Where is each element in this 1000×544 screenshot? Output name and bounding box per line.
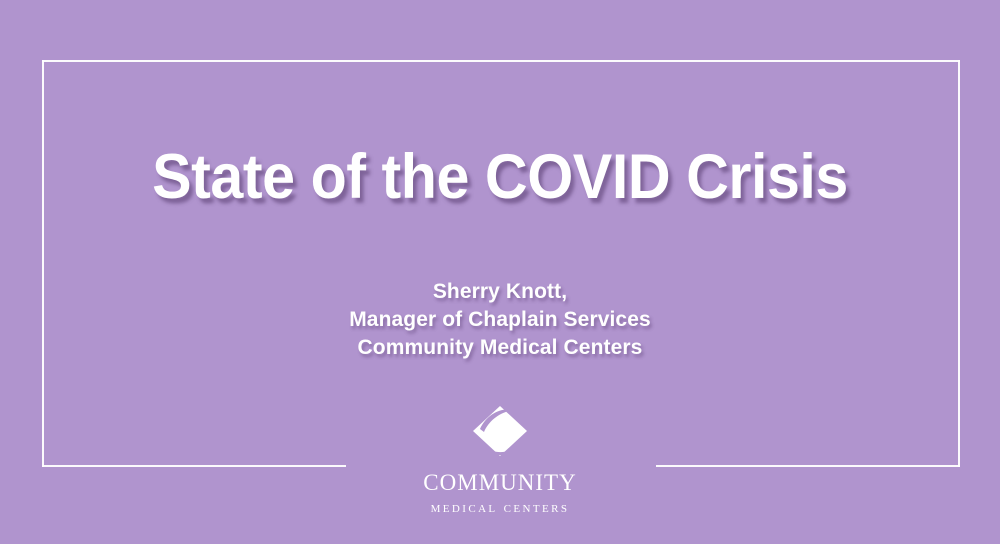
presenter-name: Sherry Knott,: [0, 278, 1000, 306]
frame-border-left: [42, 60, 44, 467]
logo-tagline: Medical Centers: [380, 501, 620, 516]
frame-border-right: [958, 60, 960, 467]
logo: Community Medical Centers: [380, 402, 620, 516]
presenter-block: Sherry Knott, Manager of Chaplain Servic…: [0, 278, 1000, 362]
frame-border-bottom-right: [656, 465, 960, 467]
community-medical-centers-diamond-icon: [467, 402, 533, 462]
frame-border-bottom-left: [42, 465, 346, 467]
presenter-organization: Community Medical Centers: [0, 334, 1000, 362]
logo-wordmark: Community: [380, 464, 620, 497]
slide-title: State of the COVID Crisis: [30, 144, 970, 210]
presenter-role: Manager of Chaplain Services: [0, 306, 1000, 334]
presentation-title-slide: State of the COVID Crisis Sherry Knott, …: [0, 0, 1000, 544]
frame-border-top: [42, 60, 960, 62]
